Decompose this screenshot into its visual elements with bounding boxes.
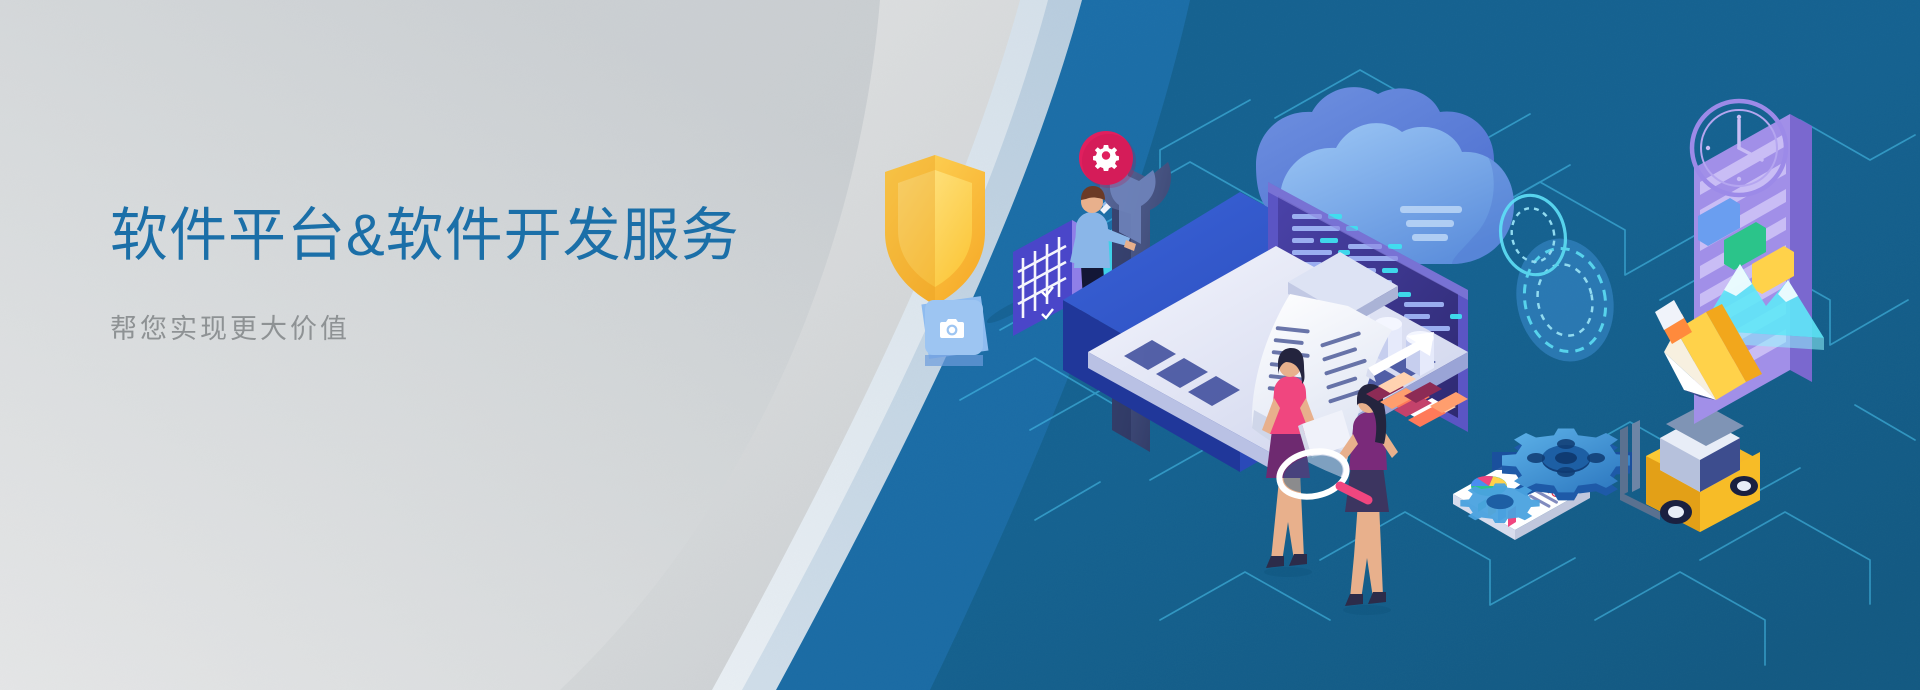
page-title: 软件平台&软件开发服务 bbox=[110, 204, 740, 269]
hud-rings-icon bbox=[1493, 189, 1624, 370]
gear-badge-icon bbox=[1079, 131, 1136, 188]
forklift-vehicle bbox=[1620, 404, 1760, 532]
banner-text-block: 软件平台&软件开发服务 帮您实现更大价值 bbox=[110, 204, 740, 345]
page-subtitle: 帮您实现更大价值 bbox=[110, 313, 740, 345]
clock-icon bbox=[1692, 101, 1786, 195]
hero-banner: NEWS bbox=[0, 0, 1920, 690]
shield-icon bbox=[885, 155, 985, 305]
